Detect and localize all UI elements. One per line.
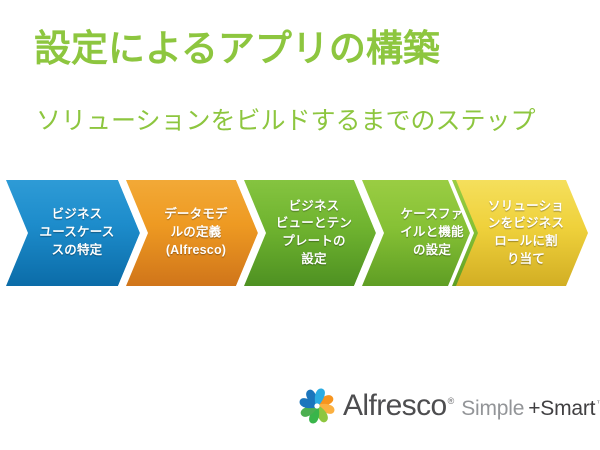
page-title: 設定によるアプリの構築 xyxy=(34,28,440,69)
registered-trademark-icon: ® xyxy=(448,396,455,406)
tagline-smart: +Smart xyxy=(528,397,595,421)
process-step-1-label: ビジネス ユースケース スの特定 xyxy=(24,206,123,259)
brand-wordmark: Alfresco®Simple+Smart™ xyxy=(343,389,600,423)
process-step-5-label: ソリューショ ンをビジネス ロールに割 り当て xyxy=(472,198,572,269)
process-flow-diagram: ビジネス ユースケース スの特定 データモデ ルの定義 (Alfresco) ビ… xyxy=(0,180,600,286)
process-step-2[interactable]: データモデ ルの定義 (Alfresco) xyxy=(126,180,258,286)
process-step-2-label: データモデ ルの定義 (Alfresco) xyxy=(148,206,236,259)
process-step-4-label: ケースファ イルと機能 の設定 xyxy=(384,206,472,259)
trademark-icon: ™ xyxy=(596,399,600,408)
process-step-3-label: ビジネス ビューとテン プレートの 設定 xyxy=(260,198,360,269)
tagline-simple: Simple xyxy=(461,397,524,421)
slide-canvas: 設定によるアプリの構築 ソリューションをビルドするまでのステップ ビジネス ユー… xyxy=(0,0,600,450)
process-step-3[interactable]: ビジネス ビューとテン プレートの 設定 xyxy=(244,180,376,286)
alfresco-pinwheel-icon xyxy=(298,387,336,425)
process-step-1[interactable]: ビジネス ユースケース スの特定 xyxy=(6,180,140,286)
brand-name: Alfresco xyxy=(343,389,447,423)
page-subtitle: ソリューションをビルドするまでのステップ xyxy=(36,107,536,136)
brand-logo-lockup: Alfresco®Simple+Smart™ xyxy=(298,385,592,427)
